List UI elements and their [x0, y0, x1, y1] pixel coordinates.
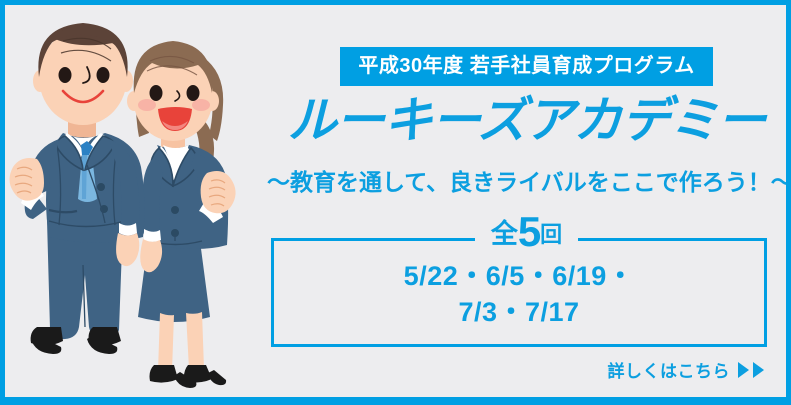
details-link-label: 詳しくはこちら — [608, 357, 731, 382]
session-count-number: 5 — [518, 208, 540, 255]
triangle-right-icon — [753, 362, 764, 378]
session-count-row: 全5回 — [267, 210, 786, 254]
program-badge-row: 平成30年度 若手社員育成プログラム — [267, 47, 786, 86]
session-dates: 5/22・6/5・6/19・ 7/3・7/17 — [271, 258, 767, 331]
session-info: 全5回 5/22・6/5・6/19・ 7/3・7/17 — [267, 210, 786, 350]
session-count-suffix: 回 — [540, 222, 562, 247]
man-figure — [10, 23, 145, 354]
banner-content: 平成30年度 若手社員育成プログラム ルーキーズアカデミー 〜教育を通して、良き… — [267, 5, 786, 397]
subtitle: 〜教育を通して、良きライバルをここで作ろう！〜 — [267, 169, 786, 197]
two-business-people-cheering-illustration — [5, 5, 267, 400]
program-badge: 平成30年度 若手社員育成プログラム — [340, 47, 712, 86]
details-link-arrows — [738, 362, 764, 378]
session-count-prefix: 全 — [491, 219, 518, 249]
details-link[interactable]: 詳しくはこちら — [608, 357, 765, 382]
promotional-banner: 平成30年度 若手社員育成プログラム ルーキーズアカデミー 〜教育を通して、良き… — [0, 0, 791, 405]
session-dates-line-2: 7/3・7/17 — [271, 294, 767, 330]
page-title: ルーキーズアカデミー — [267, 95, 786, 149]
triangle-right-icon — [738, 362, 749, 378]
session-count: 全5回 — [475, 210, 578, 263]
session-dates-line-1: 5/22・6/5・6/19・ — [271, 258, 767, 294]
